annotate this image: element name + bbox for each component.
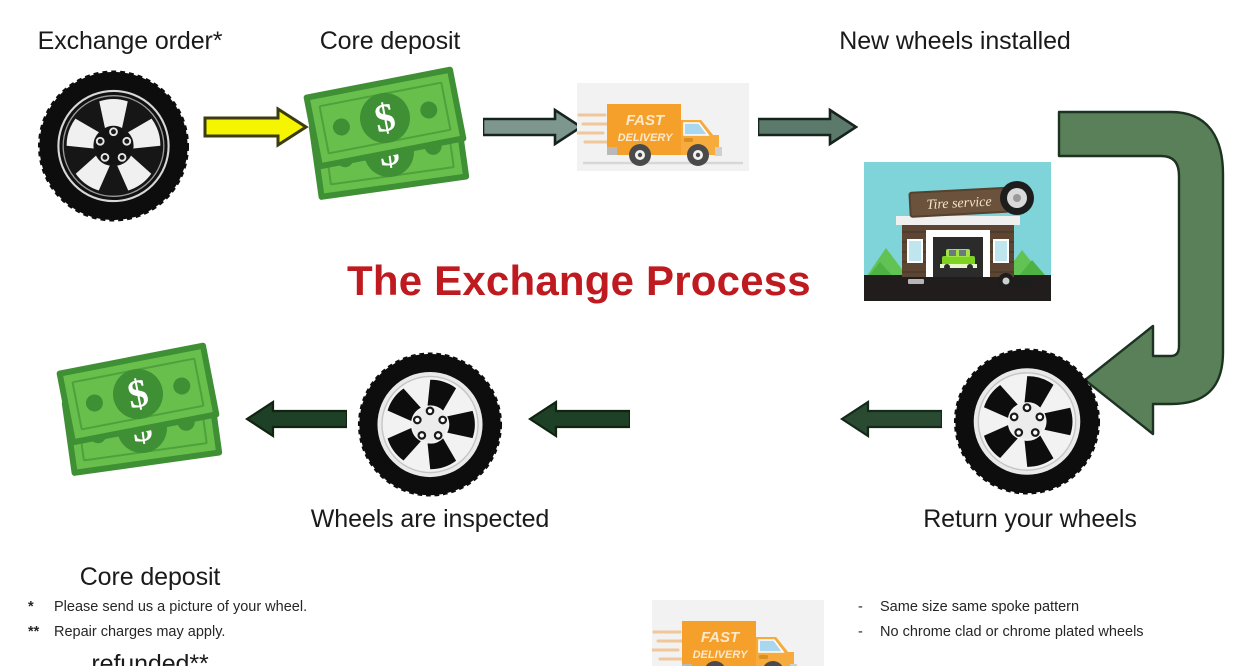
money-icon: $ $ (305, 72, 485, 207)
wheel-light-icon (356, 352, 504, 497)
truck-text-line2: DELIVERY (618, 132, 674, 144)
truck-text-line2: DELIVERY (693, 649, 749, 661)
footnote-mark: - (858, 595, 880, 620)
delivery-van-icon: FAST DELIVERY (577, 83, 749, 171)
footnote-row: ** Repair charges may apply. (28, 620, 307, 645)
footnote-text: No chrome clad or chrome plated wheels (880, 620, 1144, 645)
footnotes-right: - Same size same spoke pattern - No chro… (858, 595, 1144, 645)
footnote-mark: * (28, 595, 54, 620)
footnote-mark: ** (28, 620, 54, 645)
label-exchange-order: Exchange order* (10, 27, 250, 56)
arrow-shipping-to-install (758, 107, 858, 147)
label-return-your-wheels: Return your wheels (900, 505, 1160, 534)
footnote-row: * Please send us a picture of your wheel… (28, 595, 307, 620)
footnote-text: Repair charges may apply. (54, 620, 225, 645)
exchange-process-diagram: Exchange order* Core deposit New wheels … (0, 0, 1250, 666)
footnote-row: - No chrome clad or chrome plated wheels (858, 620, 1144, 645)
tire-service-shop-icon: Tire service (864, 162, 1051, 301)
label-new-wheels-installed: New wheels installed (795, 27, 1115, 56)
truck-text-line1: FAST (701, 629, 741, 646)
label-core-deposit-refunded-line2: refunded** (40, 650, 260, 666)
arrow-order-to-deposit (203, 106, 309, 148)
truck-text-line1: FAST (626, 112, 666, 129)
wheel-light-icon (952, 348, 1102, 495)
arrow-return-to-shipping (840, 398, 942, 440)
footnotes-left: * Please send us a picture of your wheel… (28, 595, 307, 645)
page-title: The Exchange Process (347, 257, 811, 305)
footnote-text: Please send us a picture of your wheel. (54, 595, 307, 620)
footnote-mark: - (858, 620, 880, 645)
arrow-inspection-to-refund (245, 398, 347, 440)
label-core-deposit: Core deposit (290, 27, 490, 56)
wheel-dark-icon (36, 70, 191, 222)
footnote-row: - Same size same spoke pattern (858, 595, 1144, 620)
arrow-shipping-to-inspection (528, 398, 630, 440)
arrow-deposit-to-shipping (483, 107, 583, 147)
label-wheels-are-inspected: Wheels are inspected (300, 505, 560, 534)
money-icon: $ $ (58, 348, 238, 483)
footnote-text: Same size same spoke pattern (880, 595, 1079, 620)
delivery-van-icon: FAST DELIVERY (652, 600, 824, 666)
label-core-deposit-refunded-line1: Core deposit (40, 563, 260, 592)
